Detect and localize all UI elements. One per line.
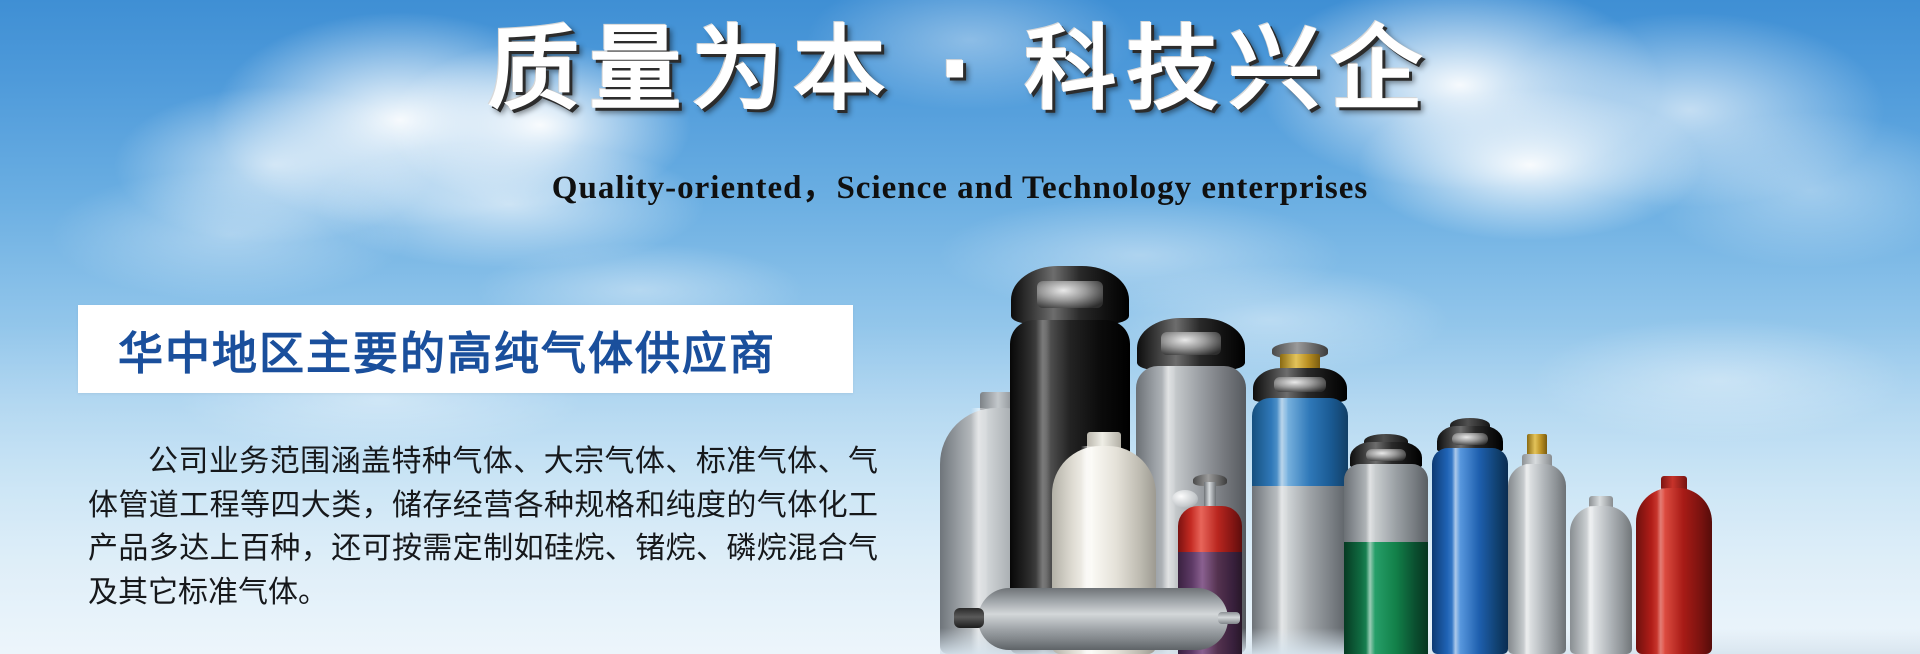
cylinder-body [1508, 464, 1566, 654]
black-guard [1011, 266, 1129, 324]
description-text: 公司业务范围涵盖特种气体、大宗气体、标准气体、气体管道工程等四大类，储存经营各种… [88, 440, 878, 614]
highlight [1524, 464, 1530, 654]
cylinder-body [1432, 448, 1508, 654]
highlight [1657, 488, 1665, 654]
cylinder-green-grey [1344, 418, 1428, 654]
description-paragraph: 公司业务范围涵盖特种气体、大宗气体、标准气体、气体管道工程等四大类，储存经营各种… [88, 440, 878, 614]
cylinder-silver-tall [1508, 422, 1566, 654]
black-guard [1253, 368, 1347, 402]
highlight [1587, 506, 1594, 654]
gas-cylinders-photo [940, 150, 1920, 654]
cylinder-red-aluminium [1636, 482, 1712, 654]
headline-chinese: 质量为本 · 科技兴企 [487, 18, 1432, 121]
promo-banner: 质量为本 · 科技兴企 Quality-oriented，Science and… [0, 0, 1920, 654]
cylinder-body [978, 588, 1228, 650]
cylinder-silver-short [1570, 502, 1632, 654]
cylinder-body [1636, 488, 1712, 654]
cylinder-body [1570, 506, 1632, 654]
cylinder-lower-band [1344, 542, 1428, 654]
callout-box: 华中地区主要的高纯气体供应商 [78, 305, 853, 393]
cylinder-body [1252, 398, 1348, 654]
cylinder-body [1344, 464, 1428, 654]
black-guard [1137, 318, 1245, 370]
cylinder-blue-aluminium [1432, 402, 1508, 654]
highlight [1452, 448, 1460, 654]
cylinder-horizontal-lying [954, 584, 1234, 654]
cylinder-blue-steel [1252, 324, 1348, 654]
valve-end-cap [954, 608, 984, 628]
callout-text: 华中地区主要的高纯气体供应商 [118, 317, 776, 382]
headline-container: 质量为本 · 科技兴企 [0, 18, 1920, 121]
neck-end [1218, 612, 1240, 624]
